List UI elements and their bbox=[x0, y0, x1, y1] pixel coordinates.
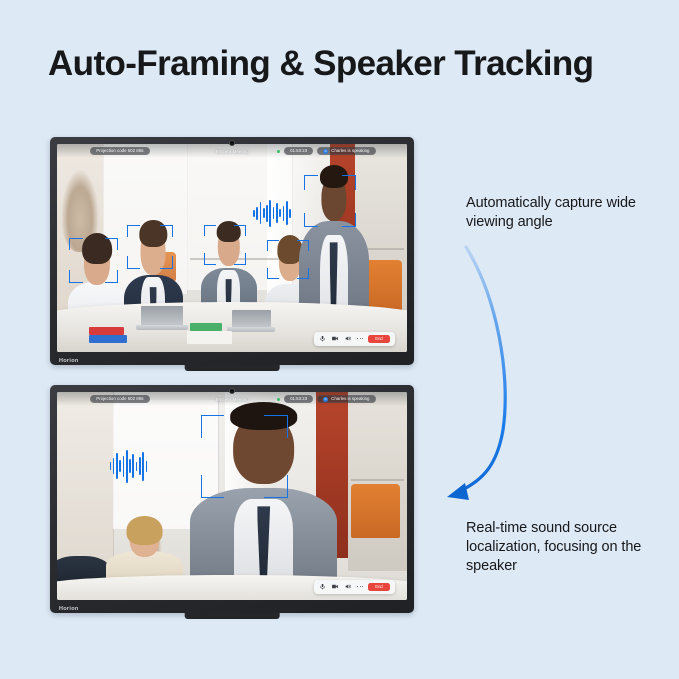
screen-top[interactable]: Projection code 502 866 Tencent Meeting … bbox=[57, 144, 407, 352]
camera-icon[interactable] bbox=[331, 583, 339, 590]
speaker-volume-icon[interactable] bbox=[344, 335, 352, 342]
end-call-button[interactable]: End bbox=[368, 335, 389, 343]
camera-icon[interactable] bbox=[331, 335, 339, 342]
display-device-bottom: Projection code 502 866 Tencent Meeting … bbox=[50, 385, 414, 613]
callout-top-text: Automatically capture wide viewing angle bbox=[466, 195, 636, 230]
poster-canvas: Auto-Framing & Speaker Tracking bbox=[0, 0, 679, 679]
face-detect-box-speaker bbox=[201, 415, 289, 498]
meeting-timer-badge: 01:53:23 bbox=[284, 395, 313, 402]
laptop bbox=[141, 306, 183, 325]
speaker-avatar: C bbox=[323, 397, 328, 402]
face-detect-box-speaker bbox=[304, 175, 357, 227]
topbar-right-group: 01:53:23 C Charles is speaking bbox=[277, 395, 375, 403]
projection-code-badge[interactable]: Projection code 502 866 bbox=[90, 395, 149, 402]
device-stand bbox=[185, 365, 280, 371]
meeting-name-label: Tencent Meeting bbox=[215, 149, 249, 154]
device-stand bbox=[185, 613, 280, 619]
document bbox=[89, 327, 124, 335]
more-options-icon[interactable] bbox=[357, 586, 363, 587]
end-call-button[interactable]: End bbox=[368, 583, 389, 591]
meeting-timer-badge: 01:53:23 bbox=[284, 147, 313, 154]
brand-logo: Horion bbox=[59, 358, 79, 364]
participant-hair bbox=[126, 516, 163, 544]
callout-bottom-text: Real-time sound source localization, foc… bbox=[466, 520, 641, 574]
sound-waveform bbox=[253, 198, 291, 228]
projection-code-badge[interactable]: Projection code 502 866 bbox=[90, 147, 149, 154]
meeting-controlbar-bottom: End bbox=[314, 580, 395, 594]
screen-bottom[interactable]: Projection code 502 866 Tencent Meeting … bbox=[57, 392, 407, 600]
speaker-badge: C Charles is speaking bbox=[317, 395, 375, 403]
office-chair bbox=[351, 484, 400, 538]
speaker-volume-icon[interactable] bbox=[344, 583, 352, 590]
recording-indicator-icon bbox=[277, 150, 280, 153]
sound-waveform bbox=[110, 448, 148, 484]
document bbox=[89, 335, 128, 342]
brand-logo: Horion bbox=[59, 606, 79, 612]
more-options-icon[interactable] bbox=[357, 338, 363, 339]
device-bezel: Projection code 502 866 Tencent Meeting … bbox=[50, 385, 414, 613]
document bbox=[187, 331, 233, 343]
speaker-avatar: C bbox=[323, 149, 328, 154]
face-detect-box bbox=[127, 225, 173, 269]
laptop bbox=[232, 310, 271, 327]
mic-icon[interactable] bbox=[319, 583, 326, 590]
speaker-badge: C Charles is speaking bbox=[317, 147, 375, 155]
curved-arrow bbox=[425, 225, 525, 515]
face-detect-box bbox=[267, 240, 309, 280]
meeting-topbar-bottom: Projection code 502 866 Tencent Meeting … bbox=[57, 392, 407, 406]
mic-icon[interactable] bbox=[319, 335, 326, 342]
recording-indicator-icon bbox=[277, 398, 280, 401]
topbar-right-group: 01:53:23 C Charles is speaking bbox=[277, 147, 375, 155]
wall-panel bbox=[348, 392, 408, 571]
meeting-controlbar-top: End bbox=[314, 332, 395, 346]
face-detect-box bbox=[69, 238, 118, 284]
speaker-badge-label: Charles is speaking bbox=[331, 149, 369, 153]
callout-top: Automatically capture wide viewing angle bbox=[466, 194, 652, 232]
shelf bbox=[351, 479, 404, 481]
face-detect-box bbox=[204, 225, 246, 265]
meeting-topbar-top: Projection code 502 866 Tencent Meeting … bbox=[57, 144, 407, 158]
device-bezel: Projection code 502 866 Tencent Meeting … bbox=[50, 137, 414, 365]
meeting-name-label: Tencent Meeting bbox=[215, 397, 249, 402]
speaker-badge-label: Charles is speaking bbox=[331, 397, 369, 401]
document bbox=[190, 323, 222, 331]
page-title: Auto-Framing & Speaker Tracking bbox=[48, 44, 648, 84]
callout-bottom: Real-time sound source localization, foc… bbox=[466, 519, 658, 576]
display-device-top: Projection code 502 866 Tencent Meeting … bbox=[50, 137, 414, 365]
